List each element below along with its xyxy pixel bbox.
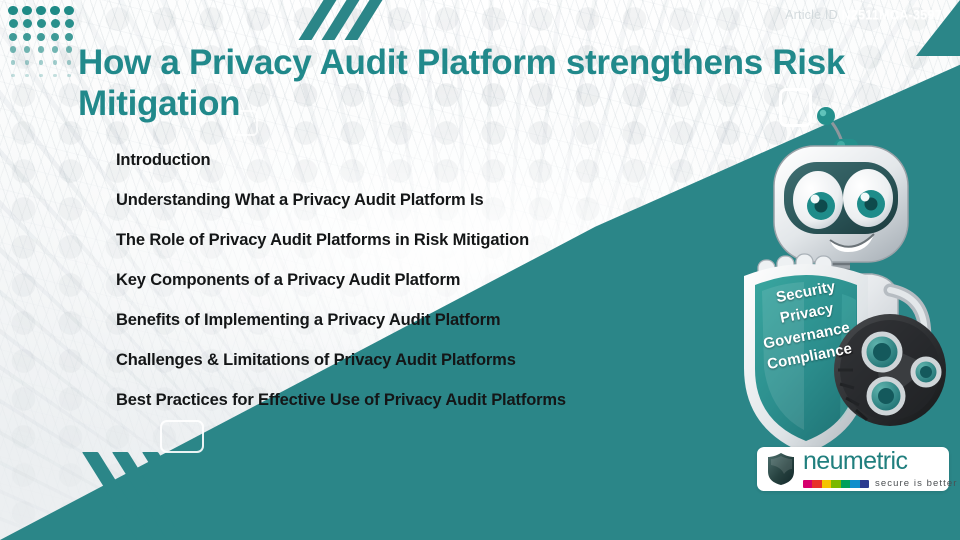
neumetric-logo: neumetric secure is better	[757, 447, 949, 491]
spectrum-segment	[860, 480, 869, 488]
dot-matrix-row	[6, 17, 76, 30]
dot-matrix-row	[6, 56, 76, 69]
dot-matrix-dot	[64, 6, 74, 16]
dot-matrix-dot	[66, 46, 73, 53]
dot-matrix-row	[6, 4, 76, 17]
dot-matrix-dot	[52, 46, 59, 53]
dot-matrix-dot	[10, 46, 17, 53]
article-id: Article ID N2511MCA-3597	[785, 8, 942, 22]
dot-matrix-dot	[39, 74, 43, 78]
article-id-value: N2511MCA-3597	[842, 8, 942, 22]
dot-matrix-dot	[39, 60, 44, 65]
dot-matrix-dot	[50, 6, 60, 16]
dot-matrix-dot	[65, 19, 74, 28]
logo-text-block: neumetric secure is better	[803, 449, 958, 489]
dot-matrix-dot	[25, 60, 30, 65]
dot-matrix-dot	[23, 33, 31, 41]
spectrum-bar-icon	[803, 480, 869, 488]
decorative-square-outline-bottom	[160, 420, 204, 453]
dot-matrix-dot	[53, 60, 58, 65]
dot-matrix-dot	[51, 33, 59, 41]
dot-matrix-dot	[9, 33, 17, 41]
spectrum-segment	[841, 480, 850, 488]
dot-matrix-dot	[67, 60, 72, 65]
dot-matrix-dot	[38, 46, 45, 53]
dot-matrix-dot	[37, 19, 46, 28]
spectrum-segment	[831, 480, 840, 488]
spectrum-segment	[822, 480, 831, 488]
spectrum-segment	[812, 480, 821, 488]
dot-matrix-dot	[22, 6, 32, 16]
list-item[interactable]: Introduction	[116, 140, 716, 180]
dot-matrix-dot	[36, 6, 46, 16]
dot-matrix-dot	[37, 33, 45, 41]
dot-matrix-decoration	[6, 4, 76, 82]
dot-matrix-row	[6, 69, 76, 82]
dot-matrix-dot	[51, 19, 60, 28]
dot-matrix-dot	[25, 74, 29, 78]
dot-matrix-dot	[67, 74, 71, 78]
dot-matrix-dot	[53, 74, 57, 78]
robot-mascot-illustration	[722, 104, 960, 434]
list-item[interactable]: Challenges & Limitations of Privacy Audi…	[116, 340, 716, 380]
list-item[interactable]: Best Practices for Effective Use of Priv…	[116, 380, 716, 420]
dot-matrix-row	[6, 43, 76, 56]
logo-wordmark: neumetric	[803, 449, 958, 474]
table-of-contents: Introduction Understanding What a Privac…	[116, 140, 716, 420]
dot-matrix-dot	[65, 33, 73, 41]
spectrum-segment	[850, 480, 859, 488]
dot-matrix-dot	[11, 60, 16, 65]
article-id-label: Article ID	[785, 8, 838, 22]
logo-tagline: secure is better	[875, 478, 958, 489]
slide-canvas: Article ID N2511MCA-3597 How a Privacy A…	[0, 0, 960, 540]
dot-matrix-dot	[24, 46, 31, 53]
list-item[interactable]: The Role of Privacy Audit Platforms in R…	[116, 220, 716, 260]
list-item[interactable]: Key Components of a Privacy Audit Platfo…	[116, 260, 716, 300]
logo-subline: secure is better	[803, 478, 958, 489]
list-item[interactable]: Understanding What a Privacy Audit Platf…	[116, 180, 716, 220]
shield-logo-icon	[766, 452, 796, 486]
list-item[interactable]: Benefits of Implementing a Privacy Audit…	[116, 300, 716, 340]
spectrum-segment	[803, 480, 812, 488]
dot-matrix-dot	[23, 19, 32, 28]
dot-matrix-row	[6, 30, 76, 43]
dot-matrix-dot	[9, 19, 18, 28]
dot-matrix-dot	[8, 6, 18, 16]
dot-matrix-dot	[11, 74, 15, 78]
